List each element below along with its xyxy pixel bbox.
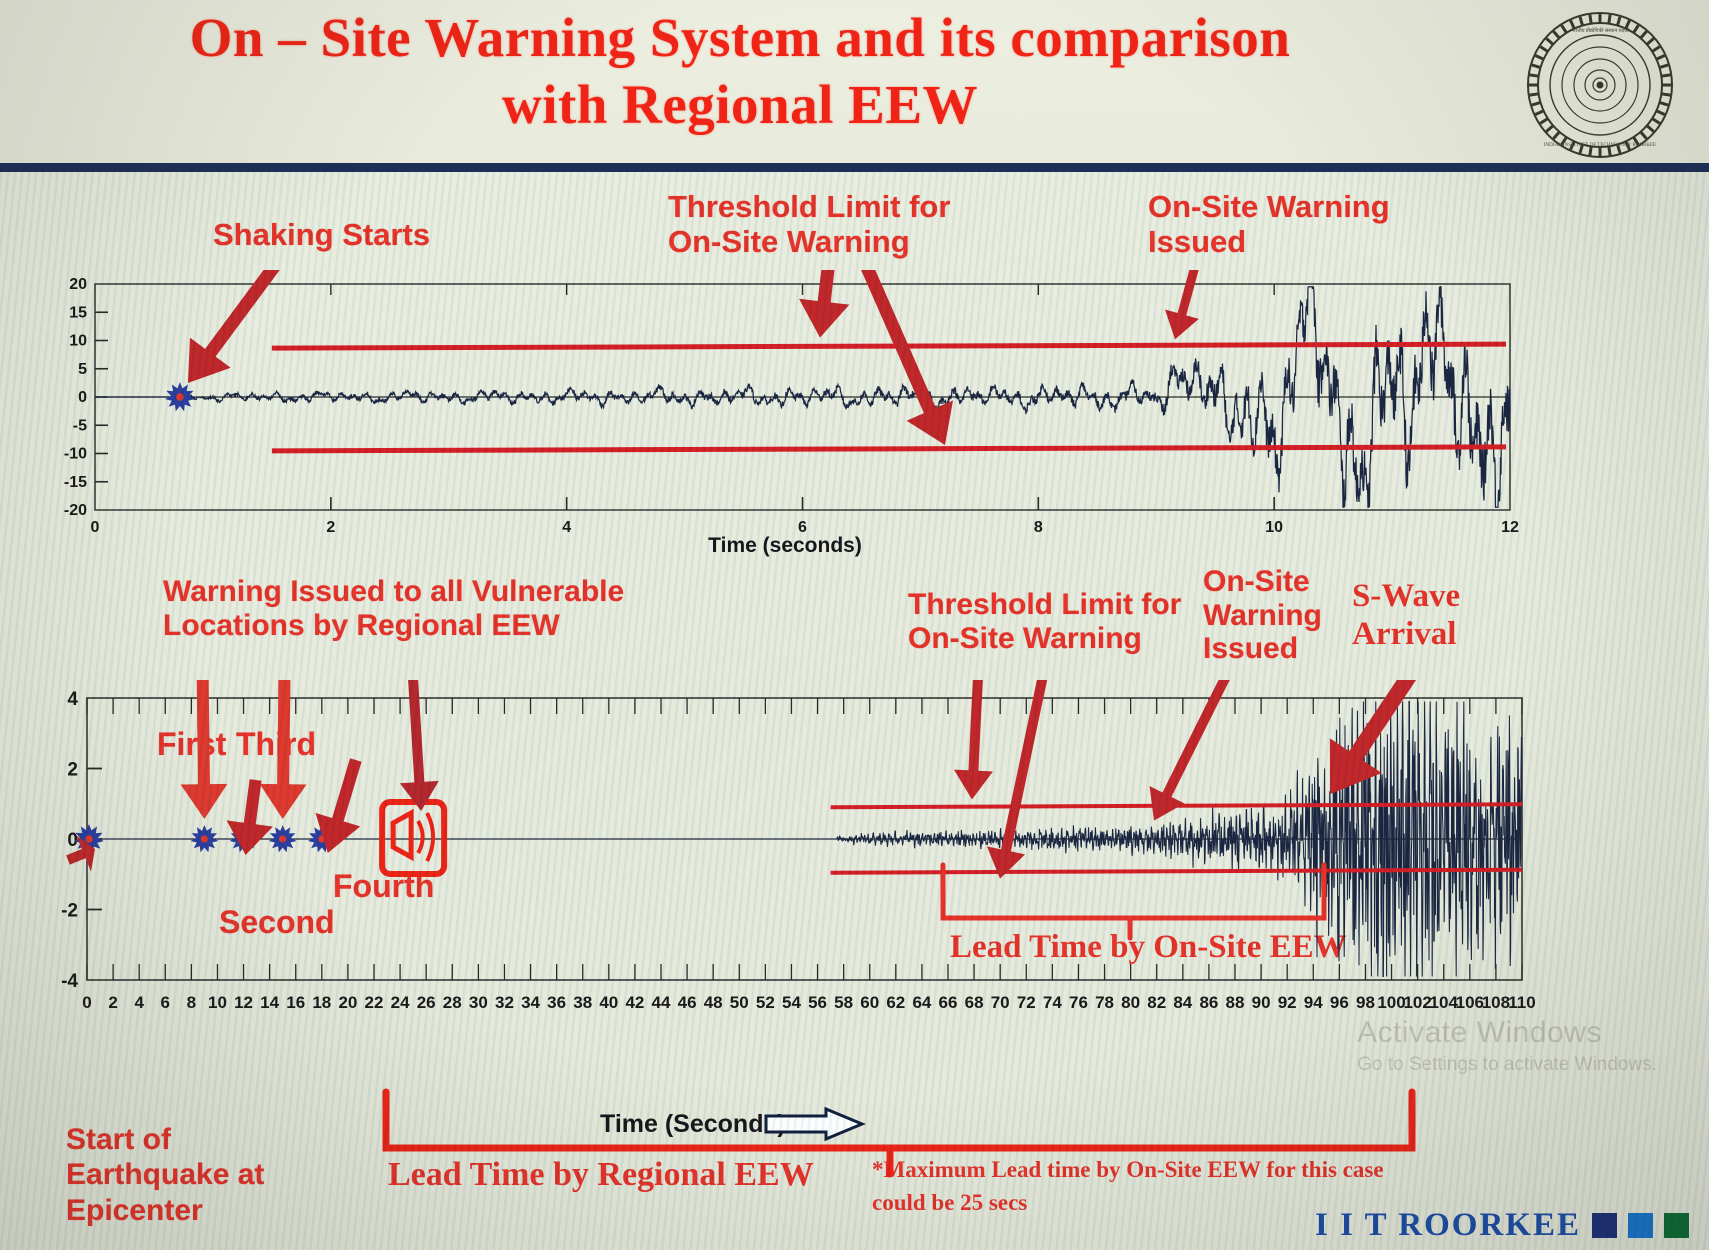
svg-text:68: 68 (965, 993, 984, 1012)
svg-text:38: 38 (573, 993, 592, 1012)
svg-text:86: 86 (1199, 993, 1218, 1012)
slide-canvas: On – Site Warning System and its compari… (0, 0, 1709, 1250)
svg-text:48: 48 (704, 993, 723, 1012)
svg-text:60: 60 (860, 993, 879, 1012)
svg-text:-20: -20 (64, 502, 87, 519)
svg-text:36: 36 (547, 993, 566, 1012)
svg-text:-4: -4 (61, 971, 78, 992)
svg-text:4: 4 (134, 993, 144, 1012)
svg-text:-15: -15 (64, 474, 87, 491)
svg-text:20: 20 (338, 993, 357, 1012)
pointer-arrow-icon (1149, 680, 1272, 821)
svg-text:0: 0 (82, 993, 91, 1012)
svg-text:72: 72 (1017, 993, 1036, 1012)
pointer-arrow-icon (400, 680, 439, 811)
svg-text:78: 78 (1095, 993, 1114, 1012)
svg-text:-2: -2 (61, 901, 78, 922)
annotation-start-of-earthquake: Start of Earthquake at Epicenter (66, 1122, 264, 1228)
svg-text:110: 110 (1508, 993, 1535, 1012)
svg-text:12: 12 (1501, 519, 1519, 536)
windows-activation-watermark: Activate Windows Go to Settings to activ… (1357, 1016, 1657, 1076)
svg-text:56: 56 (808, 993, 827, 1012)
lead-time-regional-brace (380, 1088, 1420, 1178)
svg-text:0: 0 (91, 519, 100, 536)
brand-label: I I T ROORKEE (1315, 1207, 1581, 1244)
svg-text:44: 44 (652, 993, 671, 1012)
svg-text:70: 70 (991, 993, 1010, 1012)
annotation-onsite-warning-issued-bottom: On-Site Warning Issued (1203, 565, 1322, 666)
iit-roorkee-emblem-icon: भारतीय प्रौद्योगिकी संस्थान रुड़की INDIA… (1525, 10, 1675, 160)
svg-text:90: 90 (1252, 993, 1271, 1012)
svg-text:96: 96 (1330, 993, 1349, 1012)
top-seismogram-chart: 20151050-5-10-15-20 024681012 Time (seco… (40, 270, 1530, 560)
svg-text:76: 76 (1069, 993, 1088, 1012)
watermark-line-2: Go to Settings to activate Windows. (1357, 1054, 1657, 1076)
svg-text:6: 6 (161, 993, 170, 1012)
brand-square-1 (1592, 1213, 1617, 1238)
svg-text:24: 24 (391, 993, 410, 1012)
svg-text:34: 34 (521, 993, 540, 1012)
svg-text:14: 14 (260, 993, 279, 1012)
svg-text:50: 50 (730, 993, 749, 1012)
brand-square-2 (1628, 1213, 1653, 1238)
lead-time-onsite-brace (940, 862, 1340, 948)
annotation-regional-warning-issued: Warning Issued to all Vulnerable Locatio… (163, 575, 624, 642)
svg-text:10: 10 (1265, 519, 1283, 536)
svg-text:20: 20 (69, 276, 87, 293)
annotation-threshold-limit-top: Threshold Limit for On-Site Warning (668, 190, 950, 259)
svg-text:104: 104 (1430, 993, 1459, 1012)
annotation-onsite-warning-issued-top: On-Site Warning Issued (1148, 190, 1390, 259)
svg-text:26: 26 (417, 993, 436, 1012)
svg-text:46: 46 (678, 993, 697, 1012)
svg-text:2: 2 (67, 760, 78, 781)
seismic-station-marker (191, 825, 219, 852)
svg-text:10: 10 (69, 333, 87, 350)
svg-text:108: 108 (1482, 993, 1510, 1012)
watermark-line-1: Activate Windows (1357, 1016, 1657, 1050)
svg-text:52: 52 (756, 993, 775, 1012)
svg-text:Time (seconds): Time (seconds) (708, 534, 862, 557)
svg-text:-10: -10 (64, 446, 87, 463)
brand-footer: I I T ROORKEE (1315, 1207, 1689, 1244)
svg-text:100: 100 (1377, 993, 1405, 1012)
pointer-arrow-icon (260, 680, 307, 819)
svg-text:88: 88 (1226, 993, 1245, 1012)
svg-text:94: 94 (1304, 993, 1323, 1012)
svg-text:106: 106 (1456, 993, 1484, 1012)
pointer-arrow-icon (799, 270, 849, 338)
svg-text:62: 62 (886, 993, 905, 1012)
svg-text:28: 28 (443, 993, 462, 1012)
svg-text:4: 4 (562, 519, 571, 536)
svg-text:INDIAN INSTITUTE OF TECHNOLOGY: INDIAN INSTITUTE OF TECHNOLOGY ROORKEE (1544, 143, 1656, 148)
annotation-threshold-limit-bottom: Threshold Limit for On-Site Warning (908, 588, 1181, 655)
pointer-arrow-icon (188, 270, 310, 383)
svg-text:भारतीय प्रौद्योगिकी संस्थान रु: भारतीय प्रौद्योगिकी संस्थान रुड़की (1571, 27, 1630, 34)
slide-header: On – Site Warning System and its compari… (0, 0, 1709, 172)
svg-text:15: 15 (69, 304, 87, 321)
seismic-station-marker (269, 825, 297, 852)
svg-text:74: 74 (1043, 993, 1062, 1012)
pointer-arrow-icon (849, 270, 953, 445)
svg-text:42: 42 (625, 993, 644, 1012)
svg-text:58: 58 (834, 993, 853, 1012)
svg-text:32: 32 (495, 993, 514, 1012)
svg-text:30: 30 (469, 993, 488, 1012)
svg-text:4: 4 (67, 689, 78, 710)
svg-text:22: 22 (365, 993, 384, 1012)
svg-text:40: 40 (599, 993, 618, 1012)
svg-text:12: 12 (234, 993, 253, 1012)
svg-text:-5: -5 (73, 417, 87, 434)
brand-square-3 (1664, 1213, 1689, 1238)
pointer-arrow-icon (181, 680, 228, 819)
svg-text:10: 10 (208, 993, 227, 1012)
svg-text:92: 92 (1278, 993, 1297, 1012)
svg-text:82: 82 (1147, 993, 1166, 1012)
svg-text:84: 84 (1173, 993, 1192, 1012)
svg-text:54: 54 (782, 993, 801, 1012)
seismic-station-marker (165, 382, 195, 411)
svg-text:66: 66 (939, 993, 958, 1012)
svg-text:18: 18 (312, 993, 331, 1012)
top-chart-svg: 20151050-5-10-15-20 024681012 Time (seco… (40, 270, 1530, 560)
svg-text:80: 80 (1121, 993, 1140, 1012)
svg-text:64: 64 (912, 993, 931, 1012)
annotation-s-wave-arrival: S-Wave Arrival (1352, 578, 1460, 654)
svg-text:102: 102 (1403, 993, 1431, 1012)
svg-text:16: 16 (286, 993, 305, 1012)
svg-text:8: 8 (187, 993, 196, 1012)
svg-text:2: 2 (326, 519, 335, 536)
regional-eew-broadcast-icon (382, 802, 444, 874)
svg-text:2: 2 (108, 993, 117, 1012)
annotation-shaking-starts: Shaking Starts (213, 218, 430, 253)
pointer-arrow-icon (1165, 270, 1209, 339)
page-title: On – Site Warning System and its compari… (150, 4, 1330, 138)
svg-text:98: 98 (1356, 993, 1375, 1012)
svg-text:0: 0 (78, 389, 87, 406)
svg-text:5: 5 (78, 361, 87, 378)
svg-text:8: 8 (1034, 519, 1043, 536)
